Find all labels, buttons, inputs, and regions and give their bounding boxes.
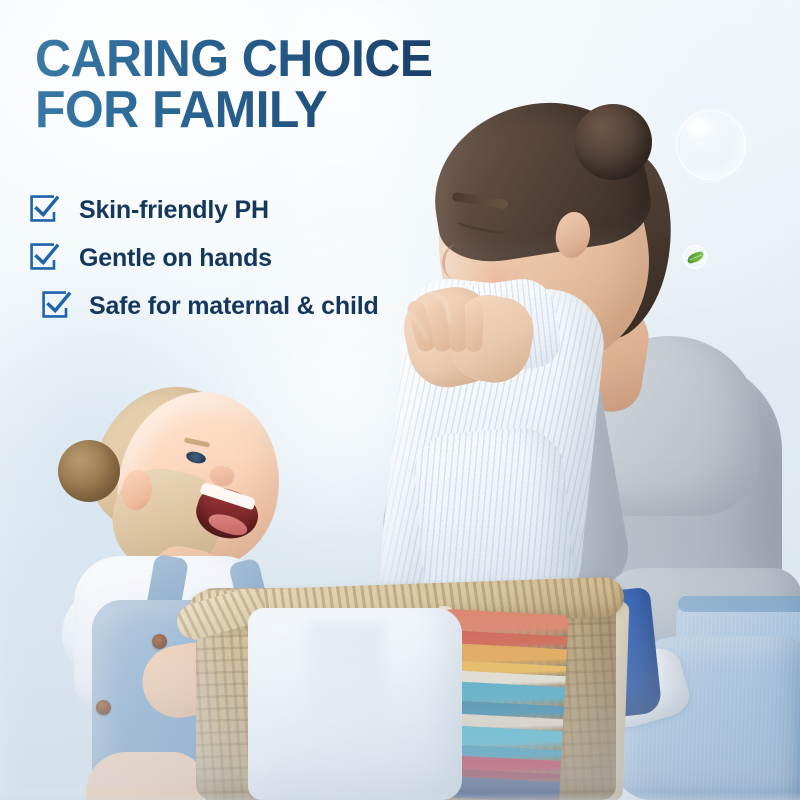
bottom-edge-fade (0, 792, 800, 800)
feature-item: Safe for maternal & child (30, 282, 500, 330)
checkbox-check-icon (30, 243, 60, 273)
checkbox-check-icon (30, 195, 60, 225)
background-bottom-shade (0, 528, 800, 800)
page-title: CARING CHOICE FOR FAMILY (35, 34, 573, 137)
feature-item: Skin-friendly PH (30, 186, 500, 234)
checkbox-check-icon (42, 291, 72, 321)
headline-line-1: CARING CHOICE (35, 34, 573, 85)
checkbox-check-icon (30, 195, 60, 225)
feature-label: Skin-friendly PH (79, 196, 269, 225)
promo-banner: CARING CHOICE FOR FAMILY Skin-friendly P… (0, 0, 800, 800)
feature-list: Skin-friendly PHGentle on handsSafe for … (30, 186, 500, 330)
feature-label: Gentle on hands (79, 244, 272, 273)
large-bubble-icon (676, 110, 746, 180)
headline-line-2: FOR FAMILY (35, 85, 573, 136)
checkbox-check-icon (42, 291, 72, 321)
checkbox-check-icon (30, 243, 60, 273)
feature-label: Safe for maternal & child (89, 292, 379, 321)
feature-item: Gentle on hands (30, 234, 500, 282)
child-hair-bun (58, 440, 120, 502)
woman-hair-bun (574, 104, 652, 180)
